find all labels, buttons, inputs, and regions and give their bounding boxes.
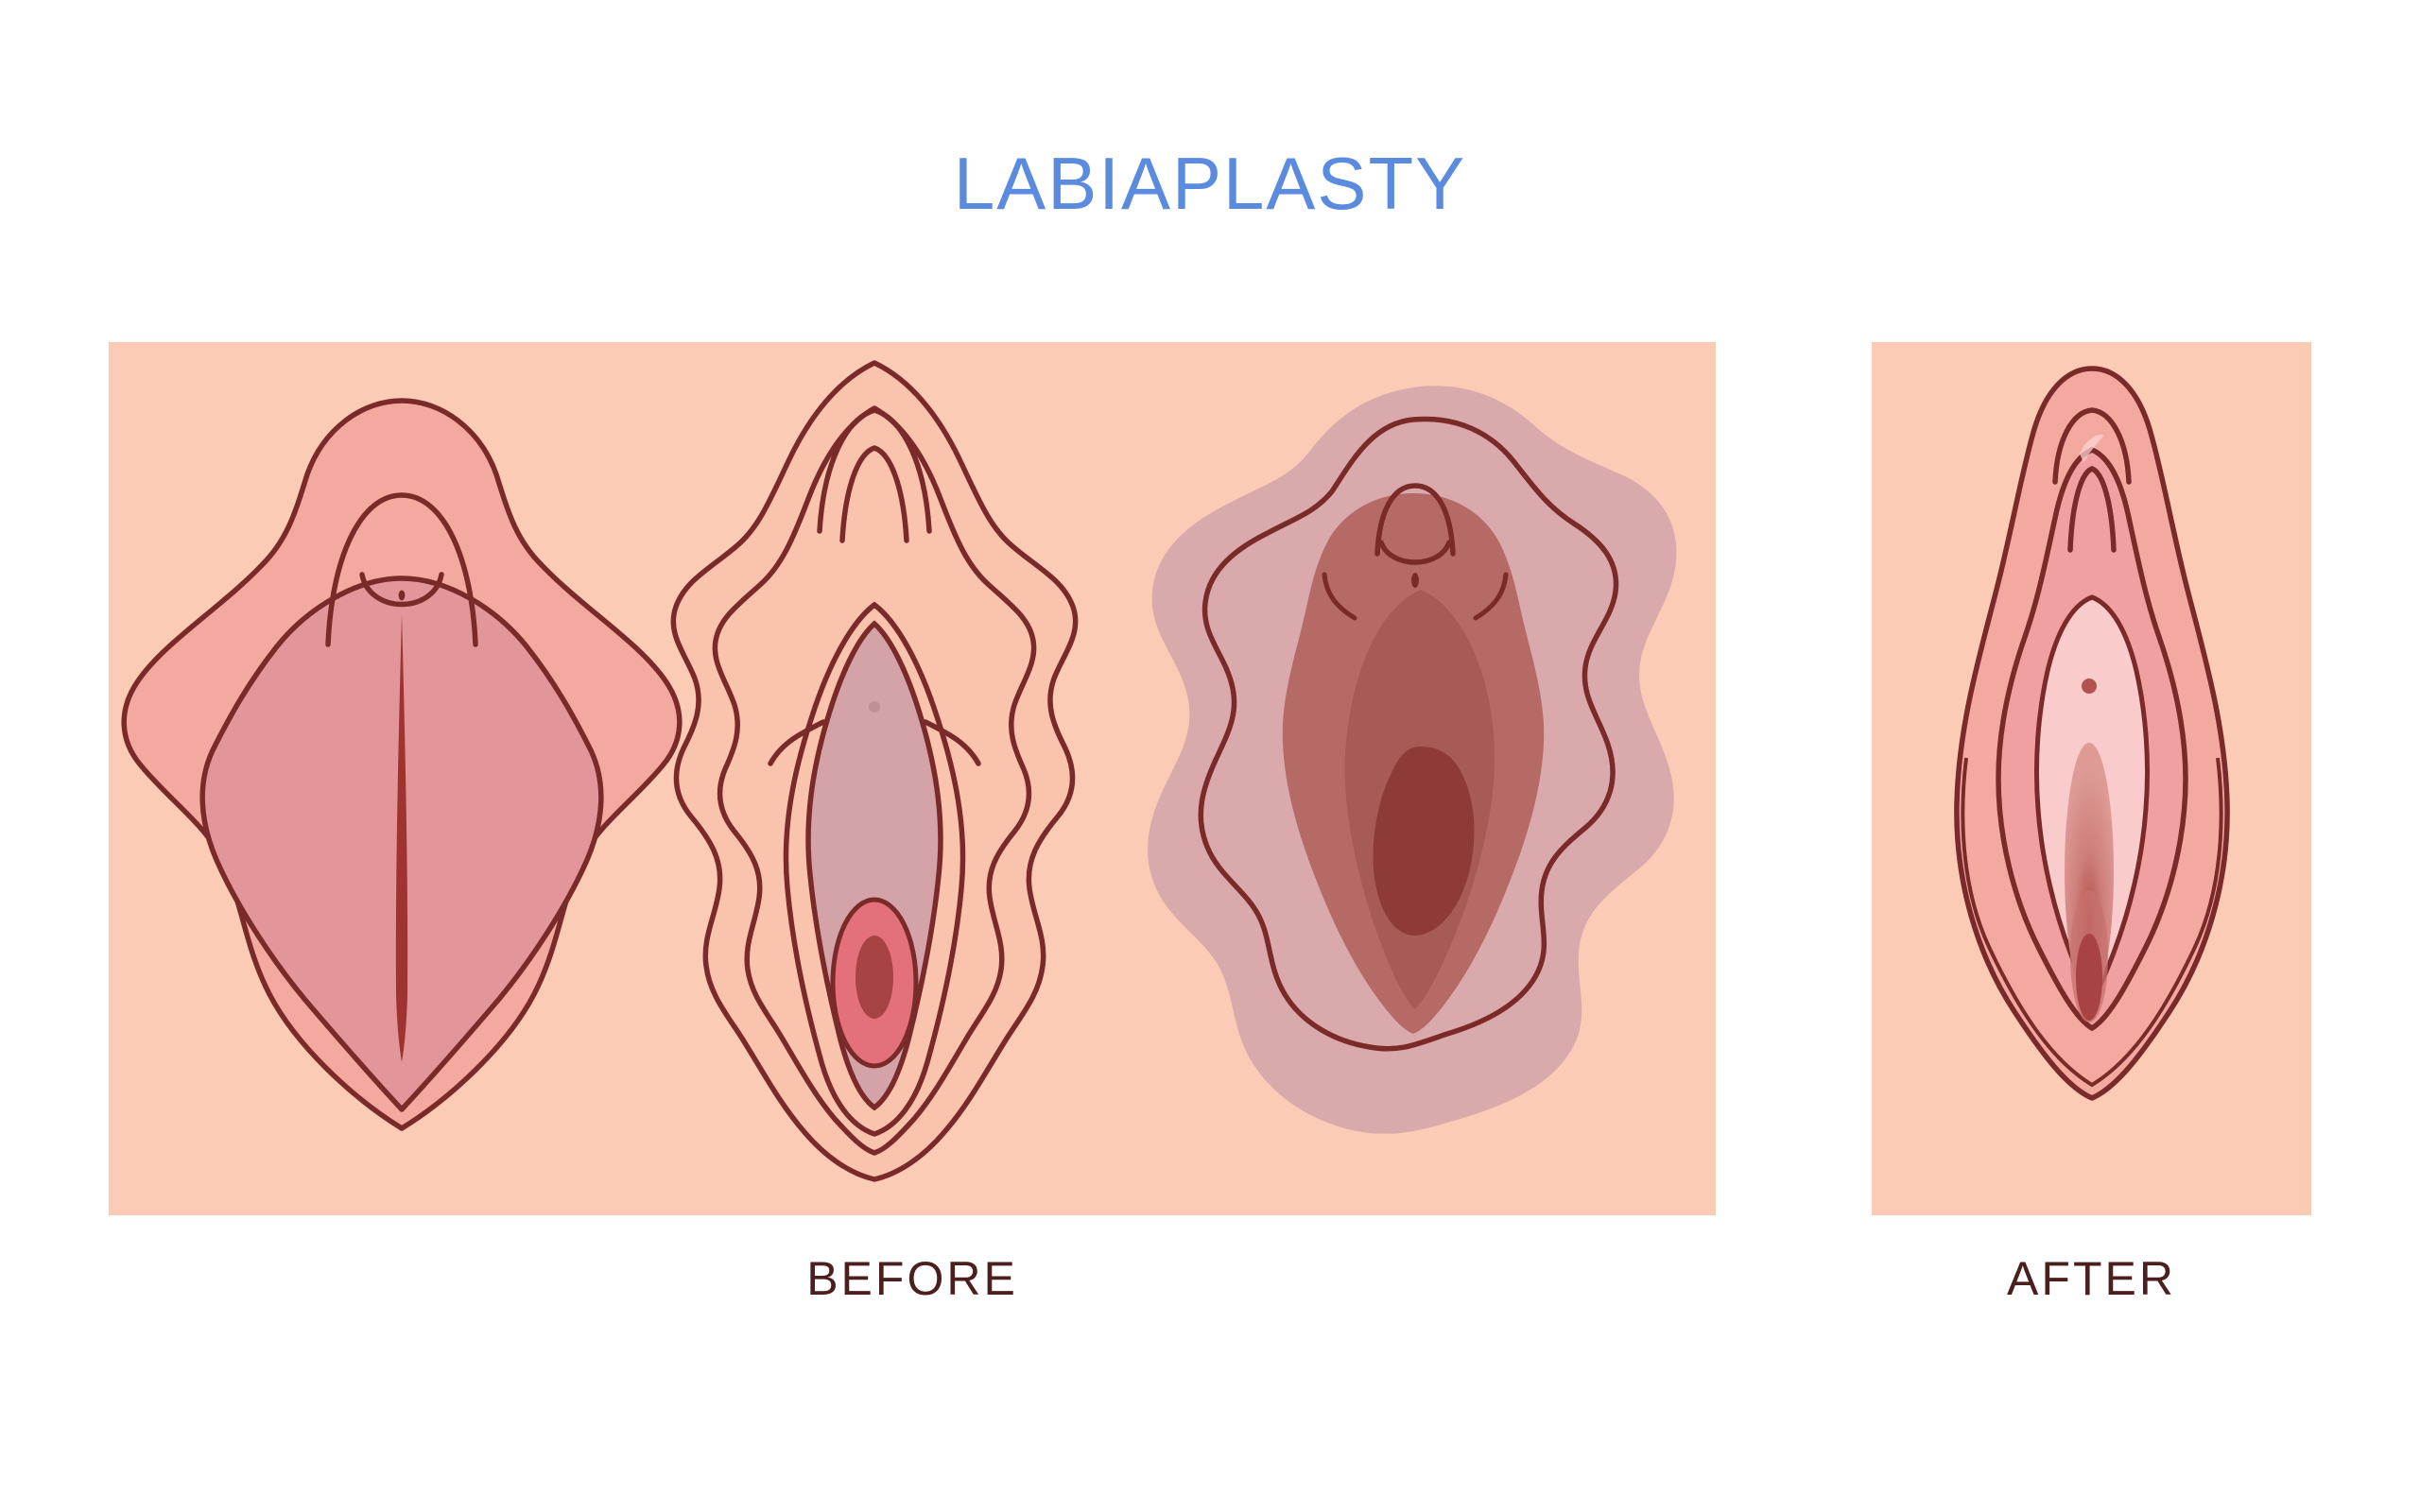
- figure-corrected-labia: [1945, 342, 2238, 1215]
- panel-after: [1872, 342, 2311, 1215]
- vaginal-opening-inner: [856, 936, 893, 1019]
- panel-before: [109, 342, 1716, 1215]
- caption-after: AFTER: [1872, 1255, 2311, 1302]
- vaginal-opening-inner: [2076, 934, 2102, 1021]
- urethral-opening-dot: [869, 701, 880, 713]
- page-title: LABIAPLASTY: [0, 146, 2420, 220]
- illustration-page: LABIAPLASTY: [0, 0, 2420, 1512]
- figure-normal-labia: [118, 342, 685, 1215]
- figure-swollen-labia: [1120, 370, 1706, 1202]
- figure-elongated-labia: [638, 342, 1111, 1215]
- urethral-opening-dot: [399, 591, 406, 601]
- caption-before: BEFORE: [109, 1255, 1716, 1302]
- urethral-opening-dot: [2082, 679, 2097, 694]
- urethral-opening-dot: [1411, 573, 1419, 588]
